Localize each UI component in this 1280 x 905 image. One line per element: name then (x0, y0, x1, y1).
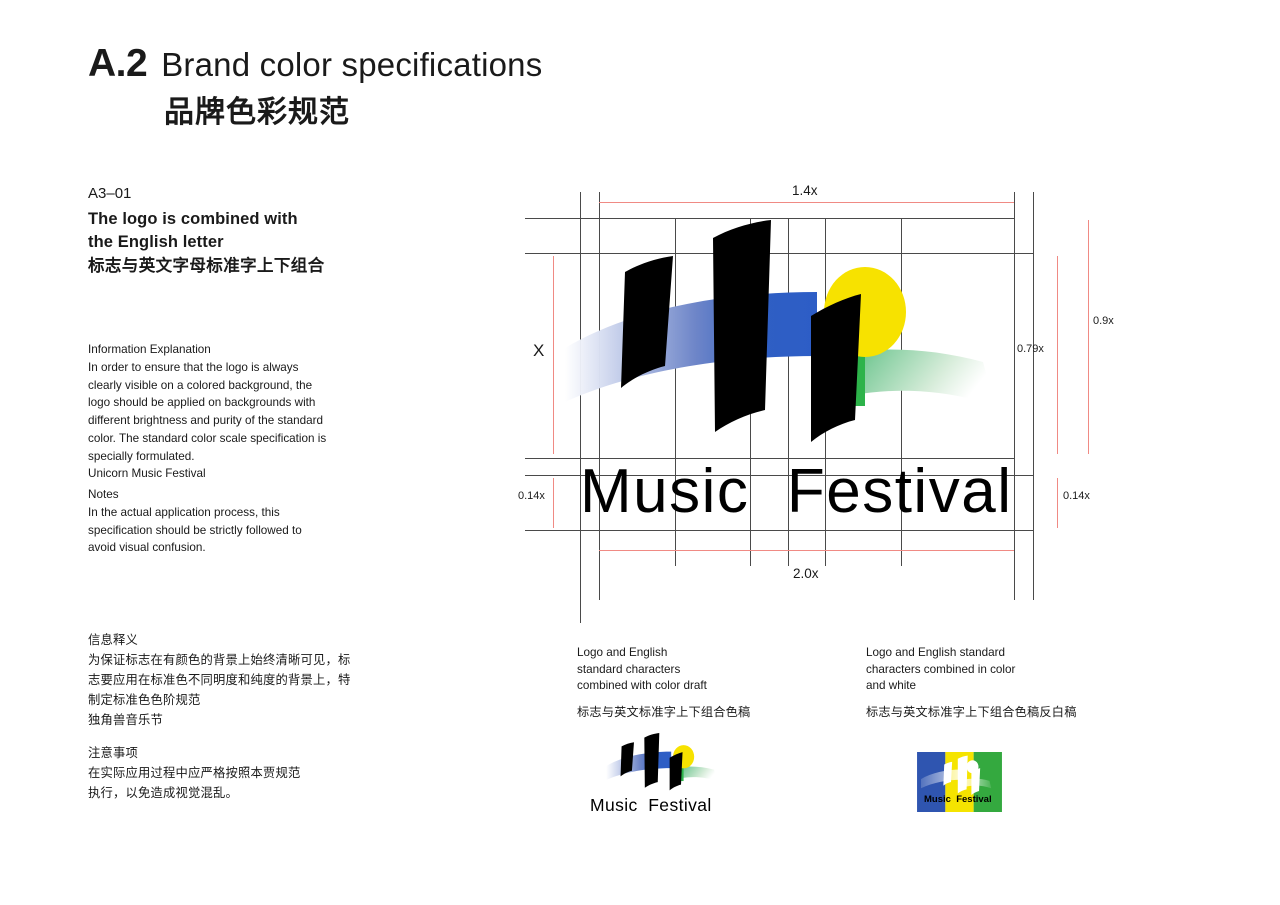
info-line-1: In order to ensure that the logo is alwa… (88, 359, 393, 377)
caption-color-version: Logo and English standard characters com… (577, 645, 807, 721)
dimension-label-bottom: 2.0x (793, 566, 819, 581)
info-heading: Information Explanation (88, 341, 393, 359)
blue-swoosh (606, 752, 671, 780)
caption-left-en-1: Logo and English (577, 645, 807, 662)
notes-line-2: specification should be strictly followe… (88, 522, 393, 540)
dimension-line-left-margin (553, 478, 554, 528)
sample-reverse-wordmark: Music Festival (924, 794, 992, 805)
dimension-line-bottom (599, 550, 1014, 551)
logo-mark-main (565, 220, 1025, 460)
caption-left-en-2: standard characters (577, 662, 807, 679)
info-cn-line-1: 为保证标志在有颜色的背景上始终清晰可见，标 (88, 651, 393, 671)
info-line-6: specially formulated. (88, 448, 393, 466)
caption-right-en-1: Logo and English standard (866, 645, 1101, 662)
brush-stroke-middle (713, 220, 771, 432)
information-explanation-block-cn: 信息释义 为保证标志在有颜色的背景上始终清晰可见，标 志要应用在标准色不同明度和… (88, 631, 393, 731)
info-line-4: different brightness and purity of the s… (88, 412, 393, 430)
brush-stroke-middle (644, 733, 659, 788)
info-cn-heading: 信息释义 (88, 631, 393, 651)
brush-stroke-middle-white (958, 756, 968, 794)
sample-color-wordmark: Music Festival (590, 795, 712, 816)
blue-swoosh (565, 292, 817, 402)
info-cn-line-4: 独角兽音乐节 (88, 711, 393, 731)
caption-right-en-2: characters combined in color (866, 662, 1101, 679)
info-line-5: color. The standard color scale specific… (88, 430, 393, 448)
page-title-code: A.2 (88, 44, 147, 83)
caption-right-en-3: and white (866, 678, 1101, 695)
dimension-line-right-outer (1088, 220, 1089, 454)
caption-left-en-3: combined with color draft (577, 678, 807, 695)
logo-sample-color: Music Festival (578, 733, 753, 823)
page-title-cn: 品牌色彩规范 (164, 96, 788, 129)
section-heading-en-line2: the English letter (88, 231, 398, 254)
section-heading-cn: 标志与英文字母标准字上下组合 (88, 255, 398, 279)
brush-stroke-right (811, 294, 861, 442)
info-line-7: Unicorn Music Festival (88, 465, 393, 483)
section-heading-en-line1: The logo is combined with (88, 208, 398, 231)
notes-line-3: avoid visual confusion. (88, 539, 393, 557)
wordmark-music-festival: Music Festival (580, 461, 1012, 523)
dimension-label-top: 1.4x (792, 183, 818, 198)
left-column: A3–01 The logo is combined with the Engl… (88, 183, 398, 279)
grid-line-horizontal (525, 530, 1033, 531)
grid-line-horizontal (525, 218, 1014, 219)
notes-heading: Notes (88, 486, 393, 504)
caption-left-cn: 标志与英文标准字上下组合色稿 (577, 704, 807, 721)
dimension-label-x: X (533, 341, 544, 361)
circle-white (967, 760, 979, 773)
notes-line-1: In the actual application process, this (88, 504, 393, 522)
notes-block: Notes In the actual application process,… (88, 486, 393, 557)
logo-sample-reverse: Music Festival (917, 752, 1002, 812)
info-line-3: logo should be applied on backgrounds wi… (88, 394, 393, 412)
caption-reverse-version: Logo and English standard characters com… (866, 645, 1101, 721)
section-code: A3–01 (88, 183, 398, 206)
info-cn-line-3: 制定标准色色阶规范 (88, 691, 393, 711)
notes-cn-line-1: 在实际应用过程中应严格按照本贾规范 (88, 764, 393, 784)
dimension-label-left-margin: 0.14x (518, 490, 545, 502)
dimension-line-top (599, 202, 1014, 203)
info-cn-line-2: 志要应用在标准色不同明度和纯度的背景上，特 (88, 671, 393, 691)
dimension-label-right-margin: 0.14x (1063, 490, 1090, 502)
notes-cn-heading: 注意事项 (88, 744, 393, 764)
title-row: A.2 Brand color specifications (88, 44, 788, 83)
info-line-2: clearly visible on a colored background,… (88, 377, 393, 395)
logo-mark-color-small (578, 733, 753, 795)
dimension-label-right-outer: 0.9x (1093, 315, 1114, 327)
notes-block-cn: 注意事项 在实际应用过程中应严格按照本贾规范 执行，以免造成视觉混乱。 (88, 744, 393, 804)
logo-construction-diagram: 1.4x X 0.9x 0.79x 0.14x 0.14x 2.0x (505, 178, 1125, 623)
caption-right-cn: 标志与英文标准字上下组合色稿反白稿 (866, 704, 1101, 721)
page-header: A.2 Brand color specifications 品牌色彩规范 (88, 44, 788, 129)
dimension-line-right-margin (1057, 478, 1058, 528)
dimension-line-right-inner (1057, 256, 1058, 454)
brush-stroke-right (670, 752, 683, 790)
notes-cn-line-2: 执行，以免造成视觉混乱。 (88, 784, 393, 804)
information-explanation-block: Information Explanation In order to ensu… (88, 341, 393, 483)
page-title-en: Brand color specifications (161, 48, 542, 81)
grid-line-vertical (1033, 192, 1034, 600)
dimension-line-left-x (553, 256, 554, 454)
